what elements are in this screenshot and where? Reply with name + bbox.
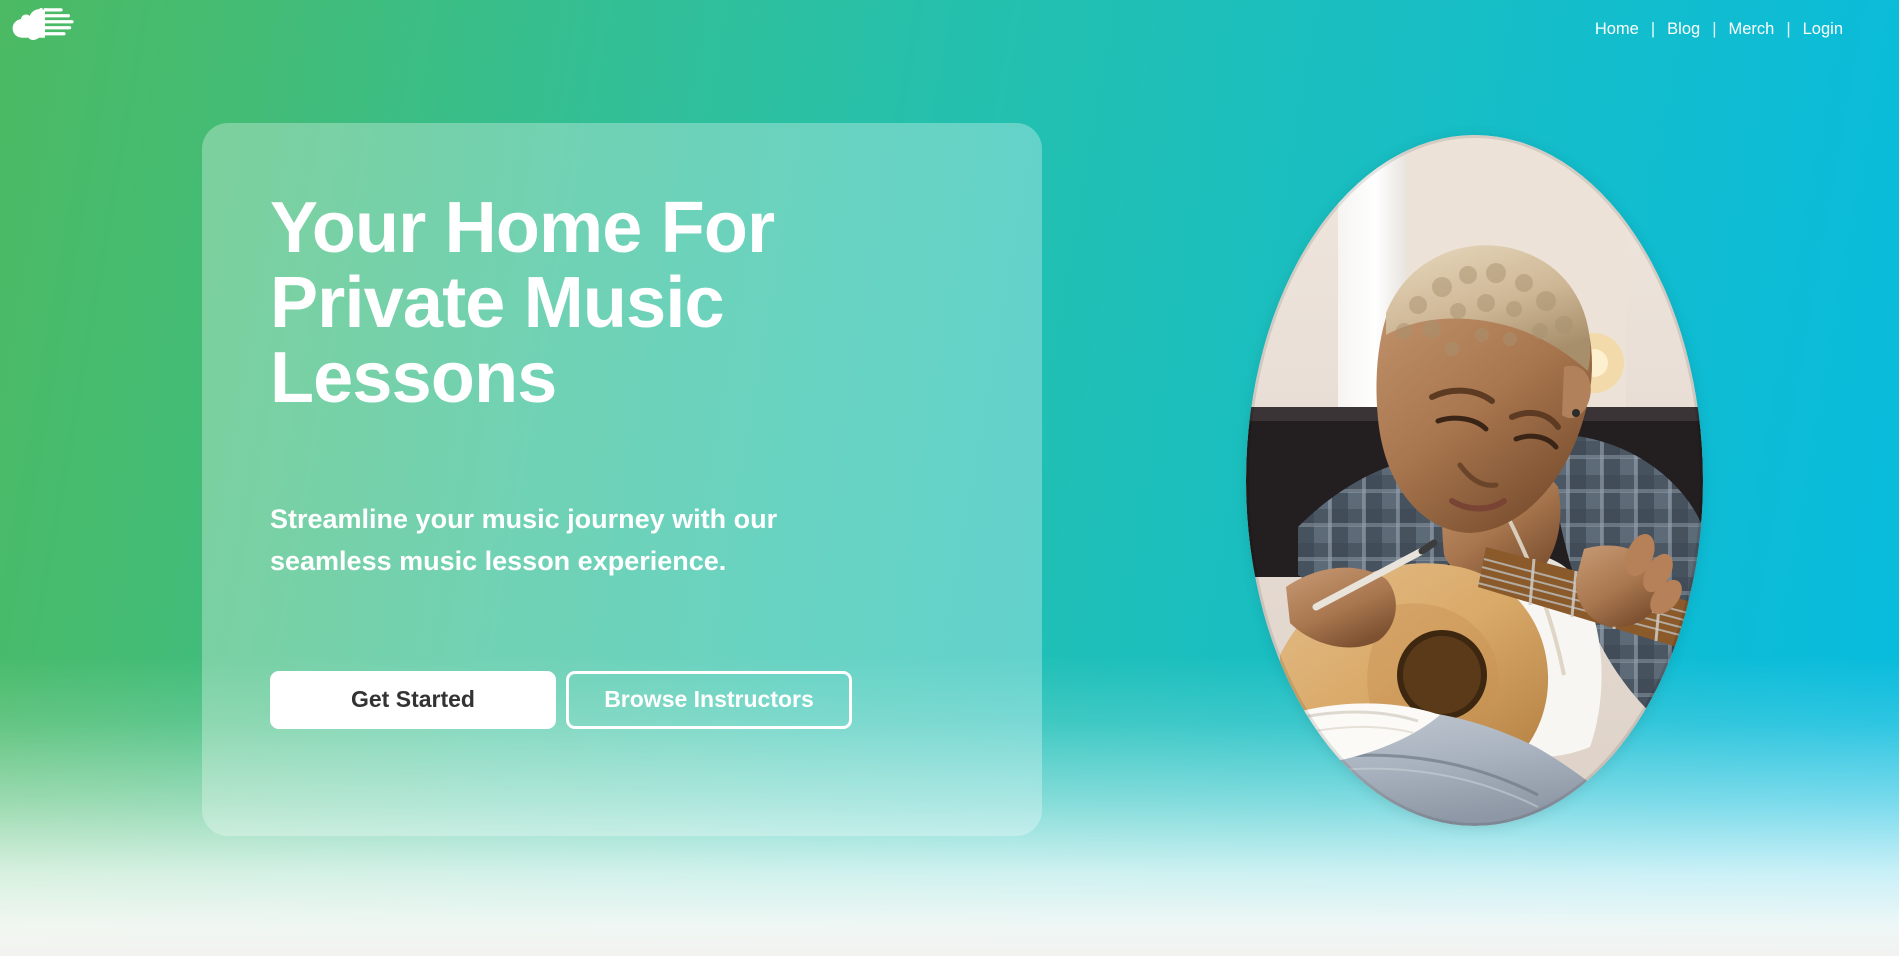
nav-link-login[interactable]: Login	[1791, 19, 1855, 40]
get-started-button[interactable]: Get Started	[270, 671, 556, 729]
primary-navigation: Home | Blog | Merch | Login	[1583, 19, 1855, 40]
site-header: Home | Blog | Merch | Login	[0, 0, 1899, 56]
hero-title: Your Home For Private Music Lessons	[270, 191, 850, 416]
browse-instructors-button[interactable]: Browse Instructors	[566, 671, 852, 729]
hero-cta-group: Get Started Browse Instructors	[270, 671, 994, 729]
guitar-student-photo	[1246, 135, 1703, 826]
hero-content: Your Home For Private Music Lessons Stre…	[270, 191, 994, 729]
nav-link-home[interactable]: Home	[1583, 19, 1651, 40]
hero-subtitle: Streamline your music journey with our s…	[270, 498, 890, 583]
hero-card: Your Home For Private Music Lessons Stre…	[202, 123, 1042, 836]
nav-link-merch[interactable]: Merch	[1716, 19, 1786, 40]
landing-page: Home | Blog | Merch | Login Your Home Fo…	[0, 0, 1899, 956]
nav-link-blog[interactable]: Blog	[1655, 19, 1712, 40]
brand-logo-link[interactable]	[10, 6, 76, 50]
cloud-music-note-staff-logo	[10, 6, 76, 50]
hero-photo	[1246, 135, 1703, 826]
